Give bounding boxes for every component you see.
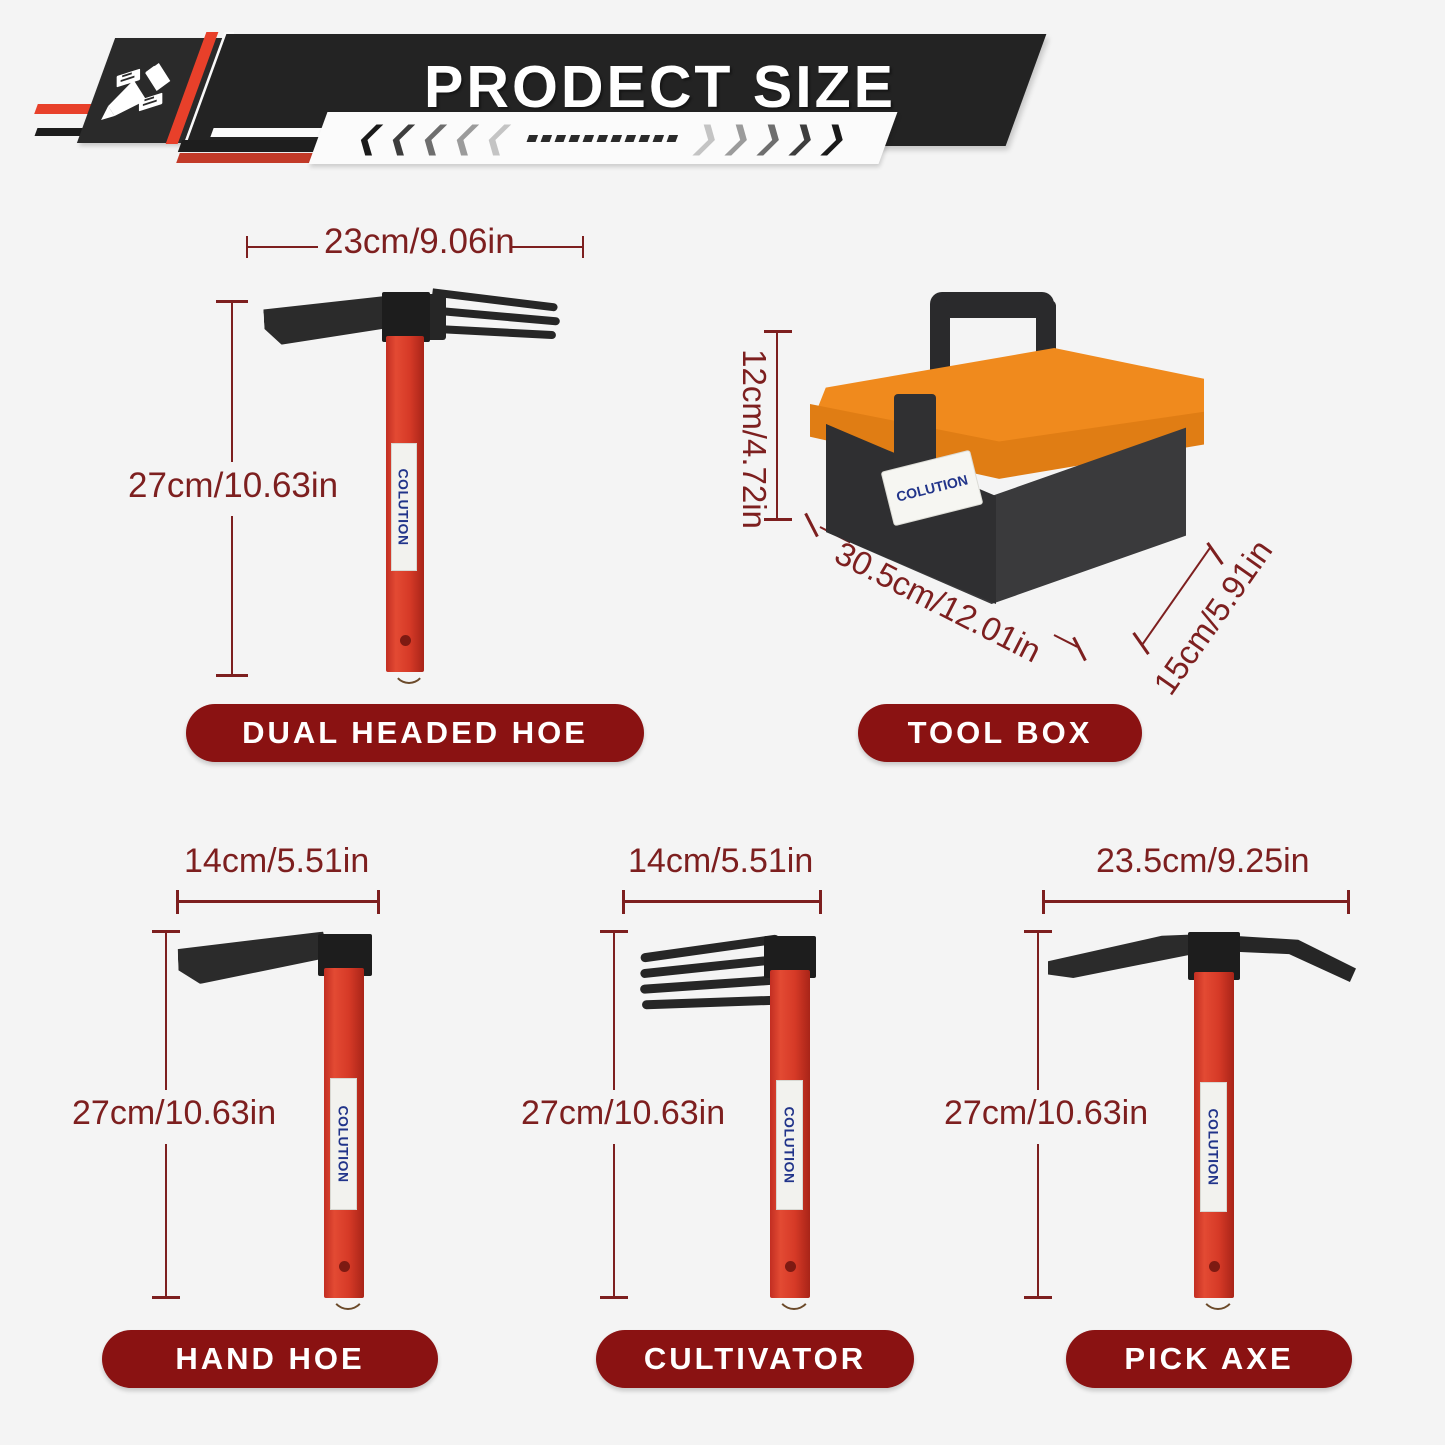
pick-axe-height-line-upper: [1037, 930, 1039, 1090]
pick-axe-width-label: 23.5cm/9.25in: [1096, 842, 1310, 881]
header-chevron-row: ❮ ❮ ❮ ❮ ❮ ❯ ❯ ❯ ❯ ❯: [321, 112, 885, 164]
hand-hoe-width-label: 14cm/5.51in: [184, 842, 369, 881]
cultivator-tine: [640, 975, 782, 994]
pick-axe-width-cap-right: [1347, 890, 1350, 914]
tool-collar: [382, 292, 430, 342]
lanyard-cord: [1200, 1272, 1236, 1310]
toolbox-height-line: [776, 330, 778, 520]
width-dim-line-right: [512, 246, 584, 248]
cultivator-width-label: 14cm/5.51in: [628, 842, 813, 881]
cultivator-width-cap-right: [819, 890, 822, 914]
dotted-divider: [513, 135, 693, 142]
hoe-blade: [263, 294, 401, 345]
toolbox-width-cap-right: [1072, 637, 1086, 662]
height-dim-line-upper: [231, 300, 233, 462]
width-dim-line-left: [246, 246, 318, 248]
cultivator-height-line-upper: [613, 930, 615, 1090]
badge-pick-axe: PICK AXE: [1066, 1330, 1352, 1388]
toolbox-depth-label: 15cm/5.91in: [1146, 533, 1280, 702]
badge-label: PICK AXE: [1124, 1341, 1293, 1377]
cultivator-height-label: 27cm/10.63in: [521, 1094, 725, 1133]
lanyard-cord: [776, 1272, 812, 1310]
width-dim-cap-right: [582, 236, 584, 258]
brand-label: COLUTION: [1200, 1082, 1227, 1212]
pick-axe-height-cap-bottom: [1024, 1296, 1052, 1299]
hand-hoe-height-line-lower: [165, 1144, 167, 1298]
height-dim-cap-bottom: [216, 674, 248, 677]
brand-label-text: COLUTION: [396, 468, 412, 545]
hoe-blade: [177, 931, 331, 984]
brand-label-text: COLUTION: [782, 1106, 798, 1183]
fork-tine: [432, 325, 556, 339]
height-dim-line-lower: [231, 516, 233, 676]
brand-label: COLUTION: [776, 1080, 803, 1210]
toolbox-height-cap-top: [764, 330, 792, 333]
lanyard-cord: [330, 1272, 366, 1310]
cultivator-width-line: [622, 900, 822, 903]
brand-label-text: COLUTION: [336, 1105, 352, 1182]
adze-blade: [1048, 934, 1206, 978]
hand-hoe-height-cap-bottom: [152, 1296, 180, 1299]
hand-hoe-height-line-upper: [165, 930, 167, 1090]
hand-hoe-height-label: 27cm/10.63in: [72, 1094, 276, 1133]
pick-axe-width-line: [1042, 900, 1350, 903]
badge-hand-hoe: HAND HOE: [102, 1330, 438, 1388]
badge-label: TOOL BOX: [908, 715, 1093, 751]
toolbox-brand-text: COLUTION: [895, 471, 970, 504]
cultivator-height-line-lower: [613, 1144, 615, 1298]
toolbox-height-label: 12cm/4.72in: [735, 349, 773, 529]
brand-label: COLUTION: [391, 443, 417, 571]
pick-axe-height-label: 27cm/10.63in: [944, 1094, 1148, 1133]
brand-label-text: COLUTION: [1206, 1108, 1222, 1185]
badge-label: DUAL HEADED HOE: [242, 715, 588, 751]
dual-hoe-width-label: 23cm/9.06in: [324, 222, 515, 262]
hand-hoe-width-line: [176, 900, 380, 903]
badge-dual-headed-hoe: DUAL HEADED HOE: [186, 704, 644, 762]
cultivator-tine: [642, 996, 780, 1010]
hand-hoe-width-cap-right: [377, 890, 380, 914]
dual-hoe-height-label: 27cm/10.63in: [128, 466, 338, 506]
toolbox-depth-cap-top: [1206, 542, 1223, 565]
header-banner: PRODECT SIZE ❮ ❮ ❮ ❮ ❮ ❯ ❯ ❯ ❯ ❯: [0, 0, 1445, 200]
badge-tool-box: TOOL BOX: [858, 704, 1142, 762]
cultivator-height-cap-bottom: [600, 1296, 628, 1299]
brand-label: COLUTION: [330, 1078, 357, 1210]
product-size-infographic: PRODECT SIZE ❮ ❮ ❮ ❮ ❮ ❯ ❯ ❯ ❯ ❯ 23cm: [0, 0, 1445, 1445]
toolbox-width-cap-left: [804, 513, 818, 538]
pick-axe-height-line-lower: [1037, 1144, 1039, 1298]
lanyard-cord: [392, 648, 426, 684]
badge-label: CULTIVATOR: [644, 1341, 866, 1377]
badge-label: HAND HOE: [175, 1341, 364, 1377]
badge-cultivator: CULTIVATOR: [596, 1330, 914, 1388]
